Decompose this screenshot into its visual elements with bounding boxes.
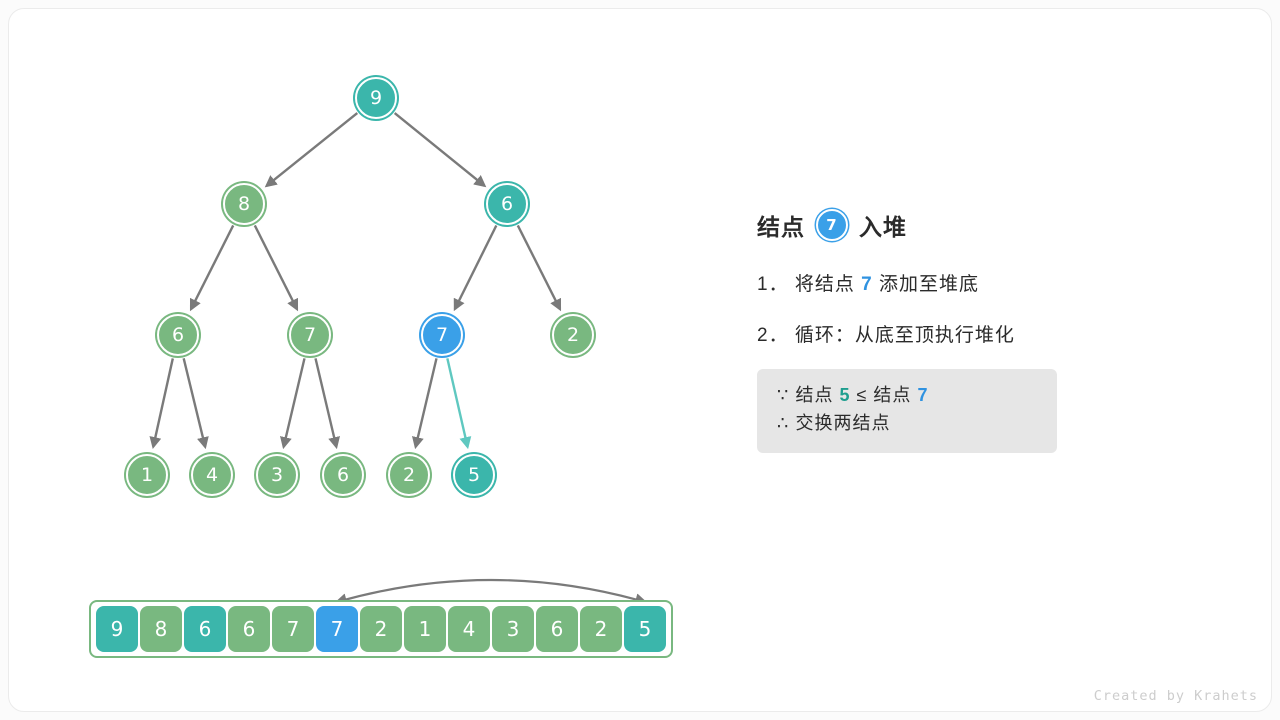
step-1-text-a: 将结点 <box>795 274 855 295</box>
array-cell-7: 1 <box>404 606 446 652</box>
step-2-number: 2． <box>757 325 789 346</box>
note-1-text-b: 结点 <box>873 385 911 405</box>
tree-edge-n5-to-n11 <box>416 358 437 446</box>
tree-node-4-8: 4 <box>191 454 233 496</box>
tree-node-7-4: 7 <box>289 314 331 356</box>
tree-node-6-2: 6 <box>486 183 528 225</box>
because-symbol: ∵ <box>777 385 789 405</box>
array-swap-arc <box>337 580 645 602</box>
array-cell-2: 6 <box>184 606 226 652</box>
tree-edge-n1-to-n4 <box>255 225 297 309</box>
tree-node-7-5: 7 <box>421 314 463 356</box>
note-1-value-right: 7 <box>917 385 928 405</box>
tree-node-3-9: 3 <box>256 454 298 496</box>
tree-edge-n3-to-n8 <box>184 358 205 446</box>
note-2-text: 交换两结点 <box>795 413 890 433</box>
array-cell-4: 7 <box>272 606 314 652</box>
tree-edge-n0-to-n1 <box>267 113 358 186</box>
step-1-number: 1． <box>757 274 789 295</box>
tree-edge-n4-to-n10 <box>316 358 337 446</box>
therefore-symbol: ∴ <box>777 413 789 433</box>
array-container: 9866772143625 <box>89 600 673 658</box>
credit-text: Created by Krahets <box>1094 688 1258 704</box>
array-cell-5: 7 <box>316 606 358 652</box>
panel-title: 结点 7 入堆 <box>757 205 1207 245</box>
panel-title-prefix: 结点 <box>757 208 805 242</box>
array-cell-11: 2 <box>580 606 622 652</box>
array-cell-0: 9 <box>96 606 138 652</box>
step-2-text-a: 循环：从底至顶执行堆化 <box>795 325 1015 346</box>
tree-node-2-11: 2 <box>388 454 430 496</box>
step-item-1: 1． 将结点 7 添加至堆底 <box>757 269 1207 296</box>
panel-title-badge: 7 <box>816 209 848 241</box>
tree-edge-n5-to-n12 <box>447 358 467 446</box>
tree-node-6-3: 6 <box>157 314 199 356</box>
array-cell-6: 2 <box>360 606 402 652</box>
screenshot-root: 9866772143625 9866772143625 结点 7 入堆 1． 将… <box>0 0 1280 720</box>
note-1-value-left: 5 <box>839 385 850 405</box>
tree-node-2-6: 2 <box>552 314 594 356</box>
edges-group <box>153 113 560 447</box>
note-1-text-a: 结点 <box>795 385 833 405</box>
tree-node-1-7: 1 <box>126 454 168 496</box>
step-item-2: 2． 循环：从底至顶执行堆化 <box>757 320 1207 347</box>
step-1-text-b: 添加至堆底 <box>879 274 979 295</box>
tree-node-9-0: 9 <box>355 77 397 119</box>
panel-title-suffix: 入堆 <box>859 208 907 242</box>
tree-node-6-10: 6 <box>322 454 364 496</box>
array-cell-9: 3 <box>492 606 534 652</box>
tree-edge-n0-to-n2 <box>395 113 485 186</box>
tree-edge-n3-to-n7 <box>153 358 173 446</box>
tree-edge-n4-to-n9 <box>284 358 305 446</box>
tree-node-5-12: 5 <box>453 454 495 496</box>
array-cell-8: 4 <box>448 606 490 652</box>
array-cell-1: 8 <box>140 606 182 652</box>
note-line-1: ∵ 结点 5 ≤ 结点 7 <box>777 382 1037 410</box>
note-line-2: ∴ 交换两结点 <box>777 410 1037 438</box>
tree-edge-n1-to-n3 <box>191 225 233 309</box>
step-1-highlight: 7 <box>861 274 873 295</box>
tree-edge-n2-to-n5 <box>455 225 496 309</box>
array-cell-12: 5 <box>624 606 666 652</box>
explanation-panel: 结点 7 入堆 1． 将结点 7 添加至堆底 2． 循环：从底至顶执行堆化 ∵ … <box>757 205 1207 453</box>
note-1-operator: ≤ <box>857 385 868 405</box>
array-swap-arrow <box>337 580 645 602</box>
array-cell-3: 6 <box>228 606 270 652</box>
tree-edge-n2-to-n6 <box>518 225 560 309</box>
tree-node-8-1: 8 <box>223 183 265 225</box>
note-box: ∵ 结点 5 ≤ 结点 7 ∴ 交换两结点 <box>757 369 1057 453</box>
array-cell-10: 6 <box>536 606 578 652</box>
